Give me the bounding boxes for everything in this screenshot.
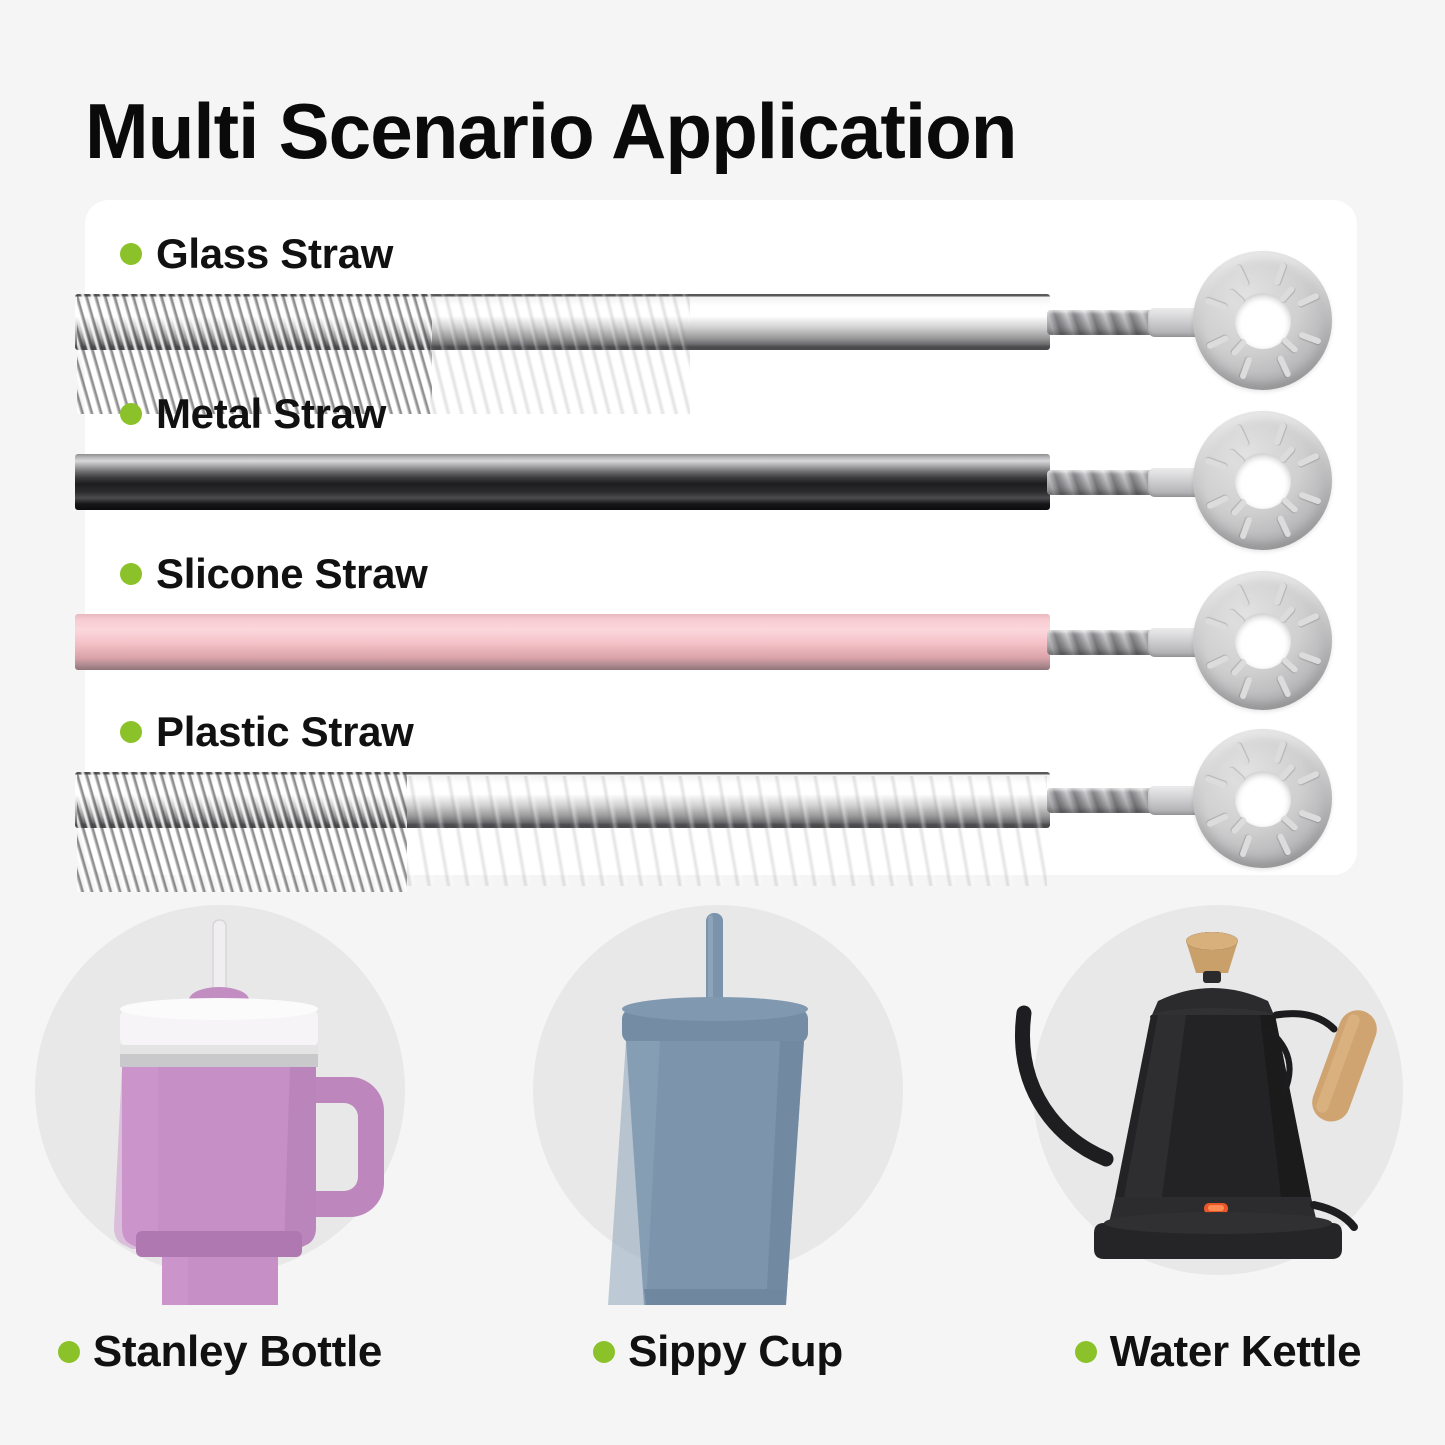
donut-sprinkle — [1276, 514, 1291, 537]
donut-sprinkle — [1234, 583, 1249, 606]
donut-sprinkle — [1298, 491, 1322, 505]
bullet-dot-icon — [58, 1341, 80, 1363]
brush-wire-stem — [1047, 630, 1155, 655]
scenario-water-kettle: Water Kettle — [1008, 905, 1428, 1405]
page-title: Multi Scenario Application — [85, 86, 1017, 177]
donut-sprinkle — [1227, 766, 1245, 783]
straw-label-metal: Metal Straw — [120, 390, 386, 438]
donut-sprinkle — [1230, 338, 1247, 356]
bullet-dot-icon — [120, 563, 142, 585]
brush-wire-stem — [1047, 788, 1155, 813]
brush-wire-stem — [1047, 470, 1155, 495]
straw-label-text: Plastic Straw — [156, 708, 414, 756]
brush-wire-stem — [1047, 310, 1155, 335]
straw-tube-silicone — [75, 614, 1050, 670]
straw-label-plastic: Plastic Straw — [120, 708, 414, 756]
donut-sprinkle — [1204, 775, 1228, 789]
donut-sprinkle — [1278, 285, 1295, 303]
donut-sprinkle — [1234, 741, 1249, 764]
donut-sprinkle — [1273, 740, 1287, 764]
donut-sprinkle — [1204, 297, 1228, 311]
straw-label-text: Glass Straw — [156, 230, 393, 278]
donut-sprinkle — [1227, 288, 1245, 305]
donut-handle-icon — [1193, 251, 1332, 390]
donut-sprinkle — [1239, 516, 1253, 540]
donut-sprinkle — [1230, 816, 1247, 834]
scenario-caption-kettle: Water Kettle — [1008, 1327, 1428, 1377]
donut-sprinkle — [1205, 334, 1228, 349]
scenario-label-text: Water Kettle — [1110, 1327, 1361, 1377]
donut-sprinkle — [1278, 445, 1295, 463]
donut-sprinkle — [1239, 834, 1253, 858]
donut-sprinkle — [1298, 331, 1322, 345]
donut-sprinkle — [1280, 496, 1298, 513]
scenario-sippy-cup: Sippy Cup — [508, 905, 928, 1405]
donut-sprinkle — [1204, 617, 1228, 631]
brush-bristles — [77, 772, 407, 892]
donut-sprinkle — [1276, 832, 1291, 855]
bullet-dot-icon — [120, 243, 142, 265]
donut-sprinkle — [1234, 263, 1249, 286]
straw-label-text: Metal Straw — [156, 390, 386, 438]
straw-label-text: Slicone Straw — [156, 550, 428, 598]
donut-sprinkle — [1278, 605, 1295, 623]
bullet-dot-icon — [120, 721, 142, 743]
scenario-caption-sippy: Sippy Cup — [508, 1327, 928, 1377]
bullet-dot-icon — [1075, 1341, 1097, 1363]
donut-handle-icon — [1193, 571, 1332, 710]
donut-sprinkle — [1296, 292, 1319, 307]
scenario-stanley-bottle: Stanley Bottle — [10, 905, 430, 1405]
sippy-cup-illustration — [508, 905, 928, 1305]
stanley-bottle-illustration — [10, 905, 430, 1305]
donut-sprinkle — [1296, 612, 1319, 627]
donut-sprinkle — [1227, 448, 1245, 465]
donut-sprinkle — [1227, 608, 1245, 625]
scenario-caption-stanley: Stanley Bottle — [10, 1327, 430, 1377]
donut-sprinkle — [1205, 494, 1228, 509]
donut-sprinkle — [1230, 658, 1247, 676]
donut-handle-icon — [1193, 729, 1332, 868]
donut-sprinkle — [1280, 656, 1298, 673]
brush-plastic — [85, 772, 1357, 892]
water-kettle-illustration — [1008, 905, 1428, 1305]
donut-sprinkle — [1298, 651, 1322, 665]
straw-label-glass: Glass Straw — [120, 230, 393, 278]
donut-sprinkle — [1298, 809, 1322, 823]
straw-row-plastic: Plastic Straw — [85, 700, 1357, 865]
donut-handle-icon — [1193, 411, 1332, 550]
donut-sprinkle — [1239, 356, 1253, 380]
donut-sprinkle — [1239, 676, 1253, 700]
donut-sprinkle — [1296, 452, 1319, 467]
straw-row-silicone: Slicone Straw — [85, 542, 1357, 707]
straw-row-metal: Metal Straw — [85, 382, 1357, 547]
scenario-label-text: Sippy Cup — [628, 1327, 843, 1377]
donut-sprinkle — [1280, 336, 1298, 353]
straw-row-glass: Glass Straw — [85, 222, 1357, 387]
donut-sprinkle — [1230, 498, 1247, 516]
donut-sprinkle — [1273, 422, 1287, 446]
donut-sprinkle — [1280, 814, 1298, 831]
donut-sprinkle — [1276, 674, 1291, 697]
donut-sprinkle — [1204, 457, 1228, 471]
donut-sprinkle — [1205, 654, 1228, 669]
donut-sprinkle — [1296, 770, 1319, 785]
donut-sprinkle — [1276, 354, 1291, 377]
bullet-dot-icon — [120, 403, 142, 425]
infographic-page: Multi Scenario Application Glass Straw — [0, 0, 1445, 1445]
straw-label-silicone: Slicone Straw — [120, 550, 428, 598]
brush-inner-coil — [407, 776, 1047, 886]
scenario-label-text: Stanley Bottle — [93, 1327, 382, 1377]
donut-sprinkle — [1278, 763, 1295, 781]
donut-sprinkle — [1273, 262, 1287, 286]
donut-sprinkle — [1273, 582, 1287, 606]
bullet-dot-icon — [593, 1341, 615, 1363]
straw-list-card: Glass Straw — [85, 200, 1357, 875]
donut-sprinkle — [1234, 423, 1249, 446]
straw-tube-metal — [75, 454, 1050, 510]
donut-sprinkle — [1205, 812, 1228, 827]
